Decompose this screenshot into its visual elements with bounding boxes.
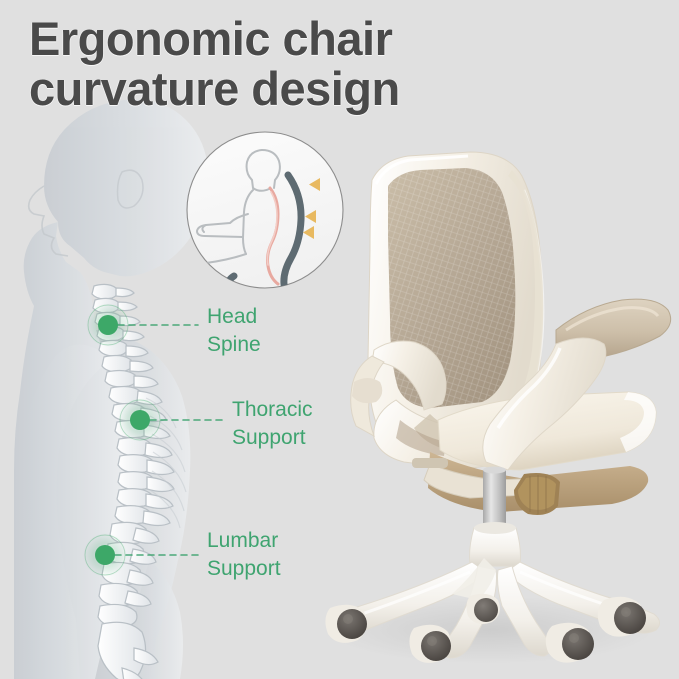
annotation-lumbar-line2: Support — [207, 555, 281, 583]
annotation-thoracic-line1: Thoracic — [232, 398, 313, 421]
annotation-lumbar-line1: Lumbar — [207, 529, 278, 552]
annotation-head-spine-line1: Head — [207, 305, 257, 328]
annotation-label-lumbar: Lumbar Support — [207, 527, 281, 582]
page-title: Ergonomic chair curvature design — [29, 14, 589, 115]
title-line-1: Ergonomic chair — [29, 14, 589, 64]
annotation-thoracic-line2: Support — [232, 424, 313, 452]
annotation-label-thoracic: Thoracic Support — [232, 396, 313, 451]
title-line-2: curvature design — [29, 64, 589, 114]
annotation-head-spine-line2: Spine — [207, 331, 261, 359]
infographic-canvas: Ergonomic chair curvature design Head Sp… — [0, 0, 679, 679]
annotation-label-head-spine: Head Spine — [207, 303, 261, 358]
